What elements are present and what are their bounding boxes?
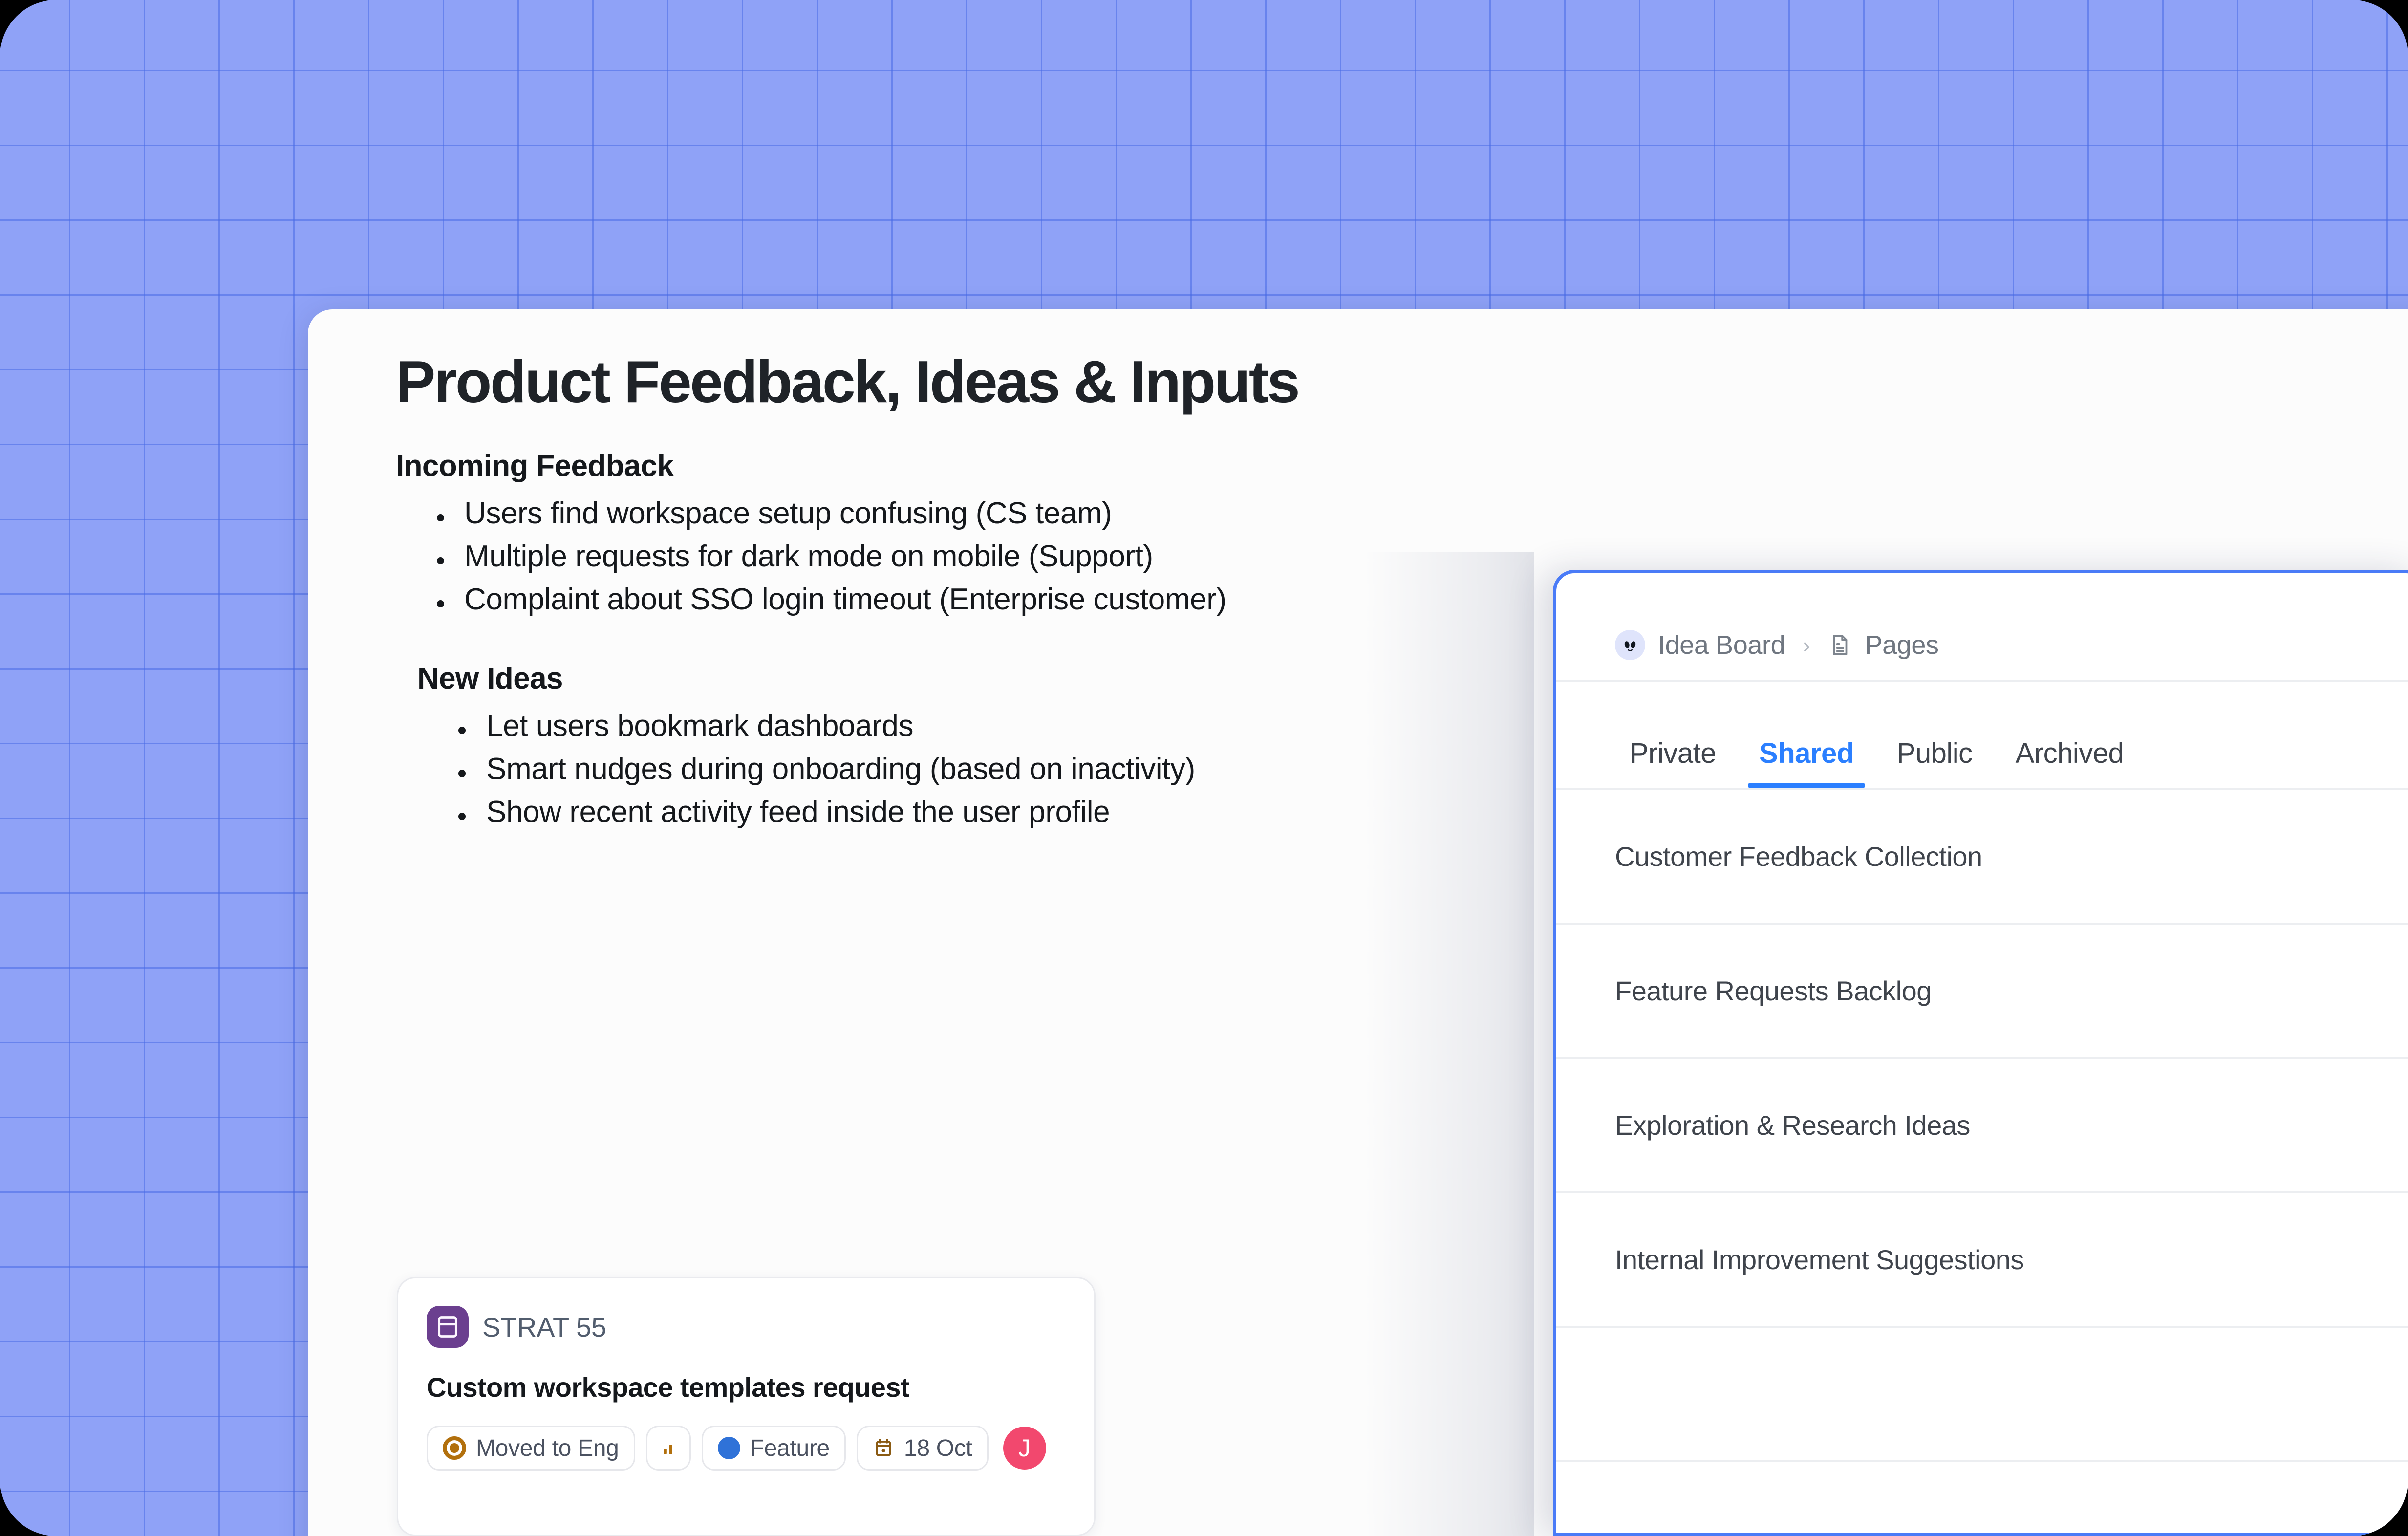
chevron-right-icon: › xyxy=(1803,632,1810,658)
breadcrumb-workspace[interactable]: Idea Board xyxy=(1658,630,1785,660)
tab-public[interactable]: Public xyxy=(1875,737,1994,788)
issue-card[interactable]: STRAT 55 Custom workspace templates requ… xyxy=(397,1277,1096,1536)
due-date-chip[interactable]: 18 Oct xyxy=(857,1426,989,1471)
issue-tag-row: Moved to Eng Feature xyxy=(427,1426,1066,1471)
breadcrumb: Idea Board › Pages xyxy=(1556,573,2408,680)
tab-archived[interactable]: Archived xyxy=(1994,737,2146,788)
board-icon xyxy=(427,1306,469,1348)
pages-panel: Idea Board › Pages Private Shared Public… xyxy=(1553,570,2408,1536)
alien-icon xyxy=(1615,630,1645,660)
document-icon xyxy=(1828,633,1852,657)
list-item[interactable]: Customer Feedback Collection xyxy=(1556,790,2408,925)
ring-dot-icon xyxy=(443,1436,466,1460)
tab-private[interactable]: Private xyxy=(1608,737,1738,788)
type-chip[interactable]: Feature xyxy=(702,1426,846,1471)
priority-chip[interactable] xyxy=(646,1426,691,1471)
status-chip[interactable]: Moved to Eng xyxy=(427,1426,635,1471)
issue-title: Custom workspace templates request xyxy=(427,1371,1066,1403)
blue-dot-icon xyxy=(718,1437,740,1459)
list-item: Users find workspace setup confusing (CS… xyxy=(396,492,2408,535)
status-chip-label: Moved to Eng xyxy=(476,1435,619,1462)
type-chip-label: Feature xyxy=(750,1435,830,1462)
breadcrumb-page[interactable]: Pages xyxy=(1865,630,1939,660)
calendar-icon xyxy=(873,1437,894,1459)
due-date-label: 18 Oct xyxy=(904,1435,972,1462)
list-item[interactable]: Exploration & Research Ideas xyxy=(1556,1059,2408,1193)
section-heading: Incoming Feedback xyxy=(396,449,2408,483)
list-item[interactable] xyxy=(1556,1328,2408,1462)
avatar[interactable]: J xyxy=(1003,1427,1046,1470)
tab-bar: Private Shared Public Archived xyxy=(1556,682,2408,788)
issue-key: STRAT 55 xyxy=(482,1311,606,1343)
list-item[interactable]: Feature Requests Backlog xyxy=(1556,925,2408,1059)
tab-shared[interactable]: Shared xyxy=(1738,737,1875,788)
app-frame: Product Feedback, Ideas & Inputs Incomin… xyxy=(0,0,2408,1536)
issue-card-header: STRAT 55 xyxy=(427,1306,1066,1348)
list-item[interactable]: Internal Improvement Suggestions xyxy=(1556,1193,2408,1328)
pages-list: Customer Feedback Collection Feature Req… xyxy=(1556,790,2408,1462)
bar-chart-icon xyxy=(659,1439,678,1457)
page-title: Product Feedback, Ideas & Inputs xyxy=(396,348,2408,415)
